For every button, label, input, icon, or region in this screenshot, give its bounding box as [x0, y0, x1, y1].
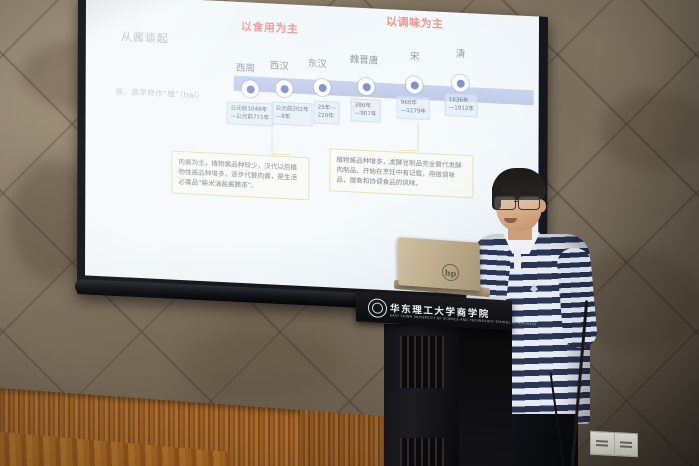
callout-stem	[418, 123, 419, 151]
lectern-slats	[400, 438, 444, 466]
callout-stem	[271, 129, 272, 153]
timeline-date-box: 公元前202年 —8年	[272, 101, 313, 126]
slide-header-food-use: 以食用为主	[241, 18, 299, 37]
timeline-node[interactable]	[452, 74, 469, 92]
timeline-date-box: 386年 —907年	[351, 98, 381, 122]
timeline-node[interactable]	[276, 80, 293, 98]
lecture-hall-photo: 以食用为主 以调味为主 从酱谈起 酱，最早称作“醢”（hai） 西周 西汉 东汉…	[0, 0, 699, 466]
hp-logo-icon: hp	[442, 263, 459, 281]
lectern-front-panel: 华东理工大学商学院 EAST CHINA UNIVERSITY OF SCIEN…	[356, 291, 512, 330]
timeline-node-dot	[410, 81, 418, 89]
laptop-lid	[398, 237, 481, 291]
glasses-icon	[494, 196, 544, 208]
timeline-era-label: 东汉	[308, 55, 327, 70]
timeline-era-label: 西周	[236, 60, 255, 75]
timeline-date-box: 25年— 220年	[314, 101, 340, 125]
timeline-date-box: 960年 —1279年	[397, 96, 431, 120]
polo-placket	[514, 248, 521, 274]
timeline-node[interactable]	[406, 76, 423, 94]
timeline-node-dot	[362, 82, 370, 90]
timeline-node-dot	[280, 84, 288, 92]
slide-title: 从酱谈起	[121, 28, 169, 46]
timeline-era-label: 魏晋唐	[350, 51, 379, 66]
timeline-era-label: 宋	[410, 48, 420, 62]
timeline-node[interactable]	[358, 78, 375, 96]
outlet-socket-half[interactable]	[614, 433, 638, 456]
lectern-side-panel	[456, 320, 512, 466]
timeline-node[interactable]	[314, 79, 331, 97]
timeline-date-box: 公元前1046年 —公元前771年	[227, 101, 274, 126]
timeline-era-label: 清	[456, 45, 466, 59]
timeline-date-box: 1636年 —1912年	[445, 93, 479, 117]
callout-box-right: 植物酱品种增多，发酵豆制品完全替代发酵肉制品。开始在烹饪中有记载，用做调味品，提…	[329, 148, 473, 198]
timeline-era-label: 西汉	[270, 57, 289, 72]
university-logo-icon	[368, 298, 387, 318]
lectern-slats	[400, 336, 444, 388]
laptop[interactable]: hp	[398, 240, 490, 296]
glasses-lens	[518, 196, 540, 210]
callout-box-left: 肉酱为主，植物酱品种较少，汉代以后植物性酱品种增多，逐步代替肉酱，是生活必需品“…	[171, 151, 309, 200]
slide-subtitle: 酱，最早称作“醢”（hai）	[116, 86, 205, 101]
timeline-node[interactable]	[242, 80, 259, 98]
slide-header-seasoning-use: 以调味为主	[386, 13, 444, 32]
timeline-node-dot	[318, 83, 326, 91]
lectern: 华东理工大学商学院 EAST CHINA UNIVERSITY OF SCIEN…	[352, 296, 522, 466]
outlet-slot	[620, 441, 632, 444]
timeline-node-dot	[246, 85, 254, 93]
outlet-slot	[620, 445, 632, 448]
timeline-node-dot	[456, 79, 464, 87]
glasses-lens	[494, 196, 516, 210]
speaker-right-arm	[556, 247, 599, 350]
